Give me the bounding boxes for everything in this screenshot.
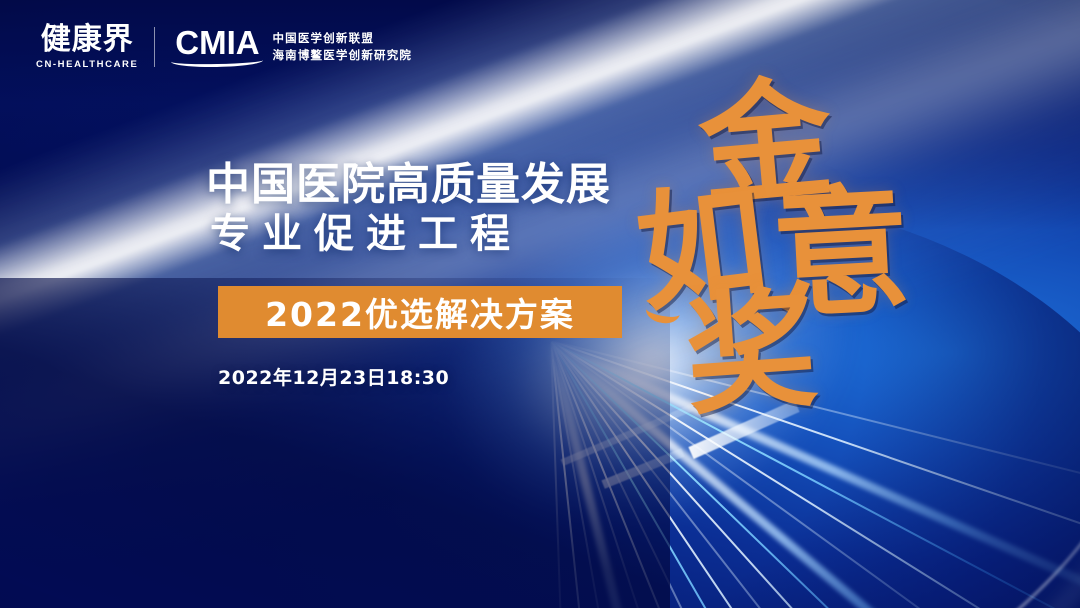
title-line-2: 专业促进工程 — [206, 209, 611, 259]
solution-banner: 2022优选解决方案 — [218, 286, 622, 338]
title-line-1: 中国医院高质量发展 — [206, 160, 611, 209]
logo-cmia: CMIA 中国医学创新联盟 海南博鳌医学创新研究院 — [171, 26, 412, 67]
logo-cn-healthcare-english: CN-HEALTHCARE — [36, 59, 138, 70]
logo-divider — [154, 27, 155, 67]
logo-cmia-swoosh-icon — [171, 54, 263, 68]
logo-cmia-line2: 海南博鳌医学创新研究院 — [272, 48, 412, 62]
logo-cn-healthcare: 健康界 CN-HEALTHCARE — [36, 24, 138, 70]
event-datetime: 2022年12月23日18:30 — [218, 363, 449, 390]
page-title: 中国医院高质量发展 专业促进工程 — [206, 160, 611, 259]
logo-cmia-mark: CMIA — [171, 26, 263, 67]
solution-banner-label: 2022优选解决方案 — [265, 288, 575, 336]
logo-bar: 健康界 CN-HEALTHCARE CMIA 中国医学创新联盟 海南博鳌医学创新… — [36, 24, 412, 70]
logo-cmia-chinese: 中国医学创新联盟 海南博鳌医学创新研究院 — [272, 31, 412, 62]
logo-cmia-line1: 中国医学创新联盟 — [272, 31, 412, 45]
poster-canvas: 健康界 CN-HEALTHCARE CMIA 中国医学创新联盟 海南博鳌医学创新… — [0, 0, 1080, 608]
logo-cn-healthcare-chinese: 健康界 — [41, 24, 134, 56]
